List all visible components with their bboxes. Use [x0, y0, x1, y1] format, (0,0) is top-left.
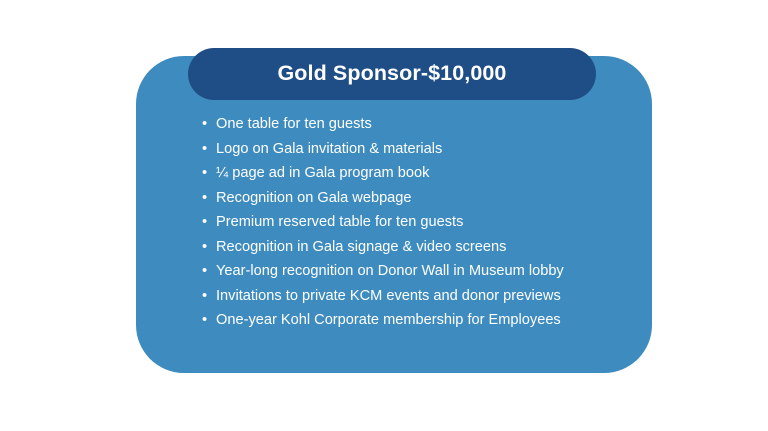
- benefit-text: Invitations to private KCM events and do…: [216, 288, 561, 304]
- benefit-item: • One-year Kohl Corporate membership for…: [200, 308, 640, 333]
- benefit-text: Year-long recognition on Donor Wall in M…: [216, 263, 564, 279]
- benefit-item: • Premium reserved table for ten guests: [200, 210, 640, 235]
- bullet-icon: •: [202, 259, 212, 284]
- bullet-icon: •: [202, 186, 212, 211]
- bullet-icon: •: [202, 235, 212, 260]
- benefit-item: • ¼ page ad in Gala program book: [200, 161, 640, 186]
- benefit-text: One table for ten guests: [216, 116, 372, 132]
- bullet-icon: •: [202, 112, 212, 137]
- benefit-text: Logo on Gala invitation & materials: [216, 141, 442, 157]
- benefit-text: ¼ page ad in Gala program book: [216, 165, 429, 181]
- benefit-item: • Invitations to private KCM events and …: [200, 284, 640, 309]
- benefit-item: • Year-long recognition on Donor Wall in…: [200, 259, 640, 284]
- benefit-text: Recognition on Gala webpage: [216, 190, 412, 206]
- benefit-text: One-year Kohl Corporate membership for E…: [216, 312, 561, 328]
- bullet-icon: •: [202, 137, 212, 162]
- sponsor-tier-header: Gold Sponsor-$10,000: [188, 48, 596, 100]
- bullet-icon: •: [202, 161, 212, 186]
- sponsor-tier-title: Gold Sponsor-$10,000: [277, 63, 506, 85]
- benefit-item: • Recognition in Gala signage & video sc…: [200, 235, 640, 260]
- benefit-text: Premium reserved table for ten guests: [216, 214, 463, 230]
- sponsor-benefits-list: • One table for ten guests • Logo on Gal…: [200, 112, 640, 333]
- benefit-item: • Logo on Gala invitation & materials: [200, 137, 640, 162]
- benefit-text: Recognition in Gala signage & video scre…: [216, 239, 506, 255]
- benefit-item: • One table for ten guests: [200, 112, 640, 137]
- sponsor-graphic: Gold Sponsor-$10,000 • One table for ten…: [0, 0, 768, 431]
- bullet-icon: •: [202, 308, 212, 333]
- bullet-icon: •: [202, 210, 212, 235]
- bullet-icon: •: [202, 284, 212, 309]
- benefit-item: • Recognition on Gala webpage: [200, 186, 640, 211]
